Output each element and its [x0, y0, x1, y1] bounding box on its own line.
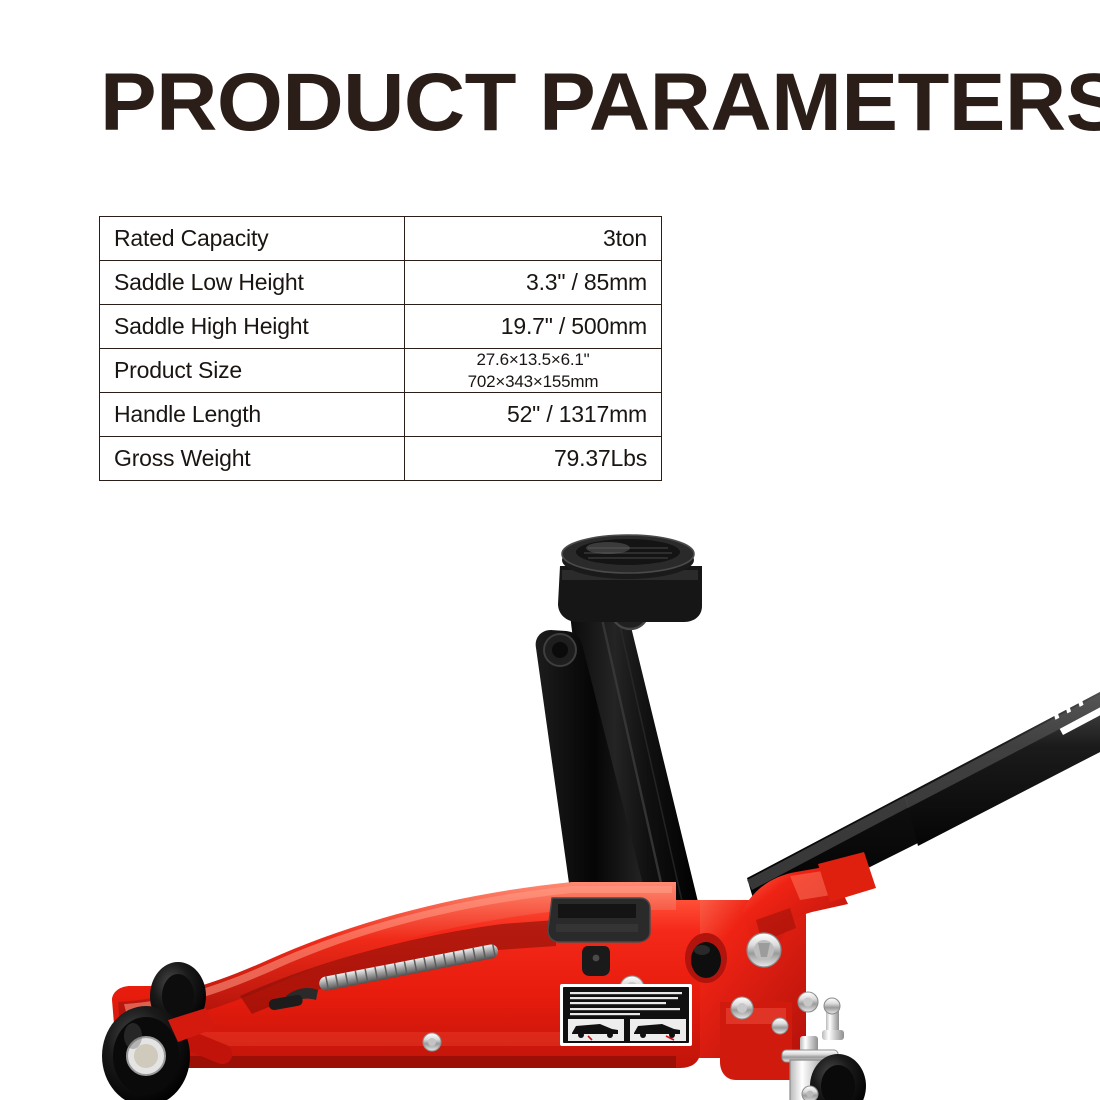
saddle-pad-inner	[576, 539, 680, 565]
table-row: Saddle High Height 19.7" / 500mm	[100, 305, 662, 349]
table-row: Rated Capacity 3ton	[100, 217, 662, 261]
arm-pivot-hole-lower	[552, 642, 568, 658]
front-wheel-gloss	[124, 1023, 142, 1049]
product-image-hydraulic-floor-jack: HY	[0, 480, 1100, 1100]
bolt-small-c	[772, 1018, 788, 1034]
spec-value: 27.6×13.5×6.1" 702×343×155mm	[405, 349, 662, 393]
saddle-pad-gloss	[586, 542, 630, 554]
front-wheel-far-inner	[162, 974, 194, 1018]
body-rivet-front-inner	[428, 1038, 436, 1046]
front-wheel-hub-center	[134, 1044, 158, 1068]
product-parameters-table: Rated Capacity 3ton Saddle Low Height 3.…	[99, 216, 662, 481]
oil-port-gloss	[694, 945, 710, 955]
page-title: PRODUCT PARAMETERS	[100, 55, 1073, 150]
spec-value: 52" / 1317mm	[405, 393, 662, 437]
grease-nipple-base	[822, 1030, 844, 1040]
table-row: Product Size 27.6×13.5×6.1" 702×343×155m…	[100, 349, 662, 393]
bolt-small-a-inner	[737, 1003, 747, 1013]
pump-well-lip	[556, 924, 638, 932]
spec-label: Gross Weight	[100, 437, 405, 481]
spec-value: 3.3" / 85mm	[405, 261, 662, 305]
spec-label: Saddle Low Height	[100, 261, 405, 305]
bolt-small-b-inner	[803, 997, 812, 1006]
spec-label: Rated Capacity	[100, 217, 405, 261]
spec-label: Product Size	[100, 349, 405, 393]
spec-label: Handle Length	[100, 393, 405, 437]
caster-axle-center	[807, 1091, 814, 1098]
grease-nipple-head	[824, 998, 840, 1014]
spec-value-line2: 702×343×155mm	[413, 371, 653, 392]
table-row: Handle Length 52" / 1317mm	[100, 393, 662, 437]
release-latch-screw	[593, 955, 600, 962]
spec-value: 79.37Lbs	[405, 437, 662, 481]
spec-value: 3ton	[405, 217, 662, 261]
spec-value-line1: 27.6×13.5×6.1"	[477, 350, 590, 369]
warning-label-group	[560, 984, 692, 1046]
table-row: Saddle Low Height 3.3" / 85mm	[100, 261, 662, 305]
spec-value: 19.7" / 500mm	[405, 305, 662, 349]
pump-well-inner	[558, 904, 636, 918]
pump-well-group	[548, 898, 650, 942]
grease-nipple	[822, 998, 844, 1040]
table-row: Gross Weight 79.37Lbs	[100, 437, 662, 481]
spec-label: Saddle High Height	[100, 305, 405, 349]
